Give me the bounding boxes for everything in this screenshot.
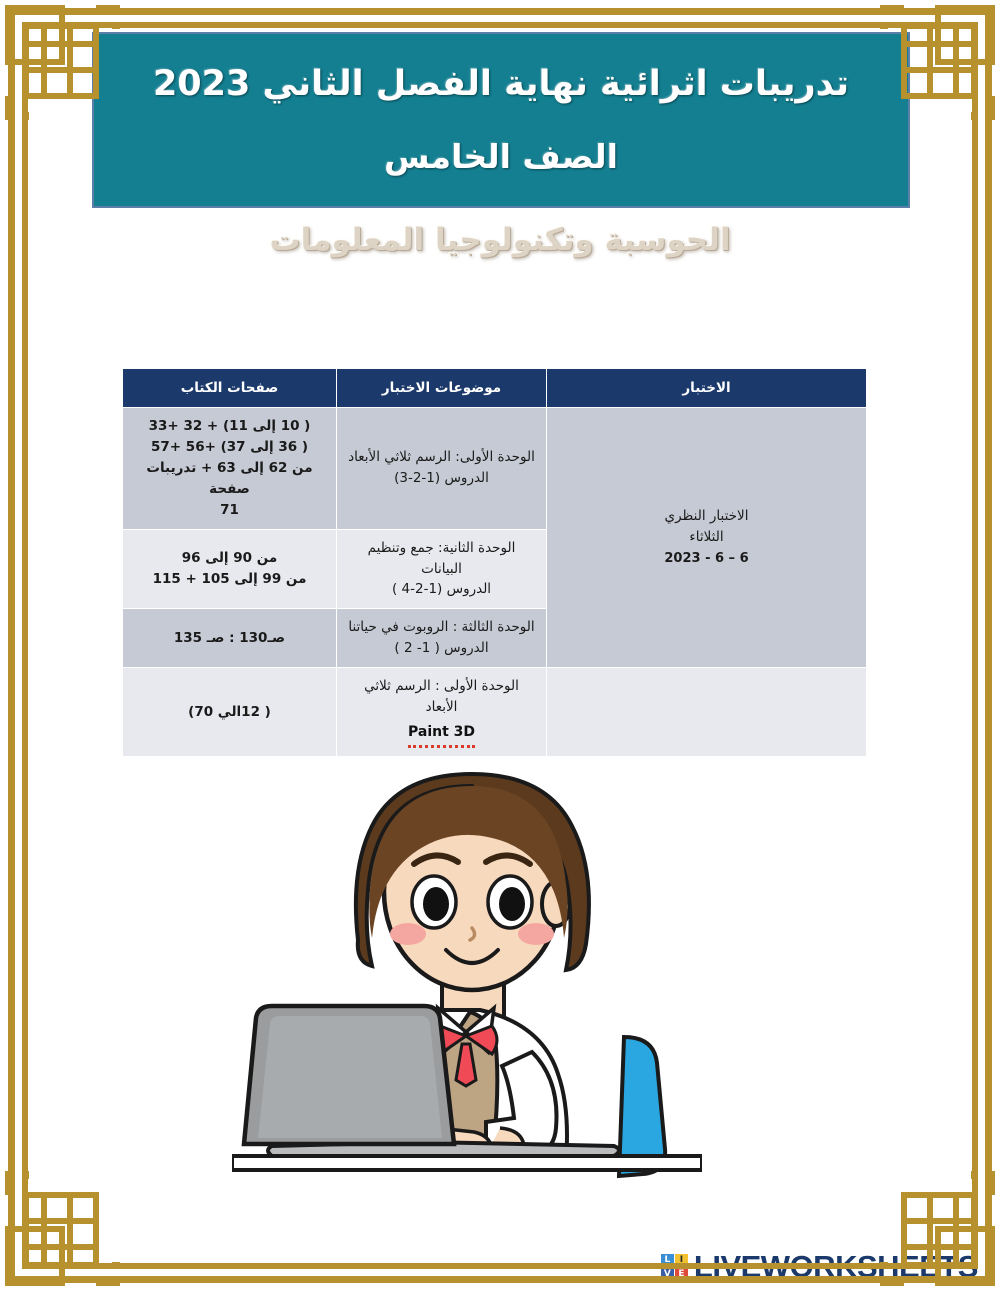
pages-cell: صـ130 : صـ 135 bbox=[123, 609, 337, 668]
topic-main: الوحدة الأولى : الرسم ثلاثي الأبعاد bbox=[347, 676, 536, 718]
liveworksheets-logo-icon: L I V E bbox=[661, 1254, 688, 1281]
pages-line: من 99 إلى 105 + 115 bbox=[133, 569, 326, 590]
table-row: الوحدة الأولى : الرسم ثلاثي الأبعاد Pain… bbox=[123, 668, 867, 757]
pages-line: ( 12الي 70) bbox=[133, 702, 326, 723]
desk bbox=[232, 1156, 702, 1170]
pages-line: من 90 إلى 96 bbox=[133, 548, 326, 569]
topic-cell: الوحدة الأولى : الرسم ثلاثي الأبعاد Pain… bbox=[337, 668, 547, 757]
pages-cell: من 90 إلى 96 من 99 إلى 105 + 115 bbox=[123, 529, 337, 609]
pages-line: 71 bbox=[133, 500, 326, 521]
pages-cell: ( 10 إلى 11) + 32 +33 ( 36 إلى 37) +56 +… bbox=[123, 408, 337, 530]
column-header-pages: صفحات الكتاب bbox=[123, 369, 337, 408]
pupil-right bbox=[499, 887, 525, 921]
exam-day: الثلاثاء bbox=[557, 527, 856, 548]
topic-sub: الدروس (1-2-3) bbox=[347, 468, 536, 489]
topic-sub: الدروس ( 1- 2 ) bbox=[347, 638, 536, 659]
topic-main: الوحدة الثانية: جمع وتنظيم البيانات bbox=[347, 538, 536, 580]
truncated-text bbox=[557, 709, 856, 715]
worksheet-page: تدريبات اثرائية نهاية الفصل الثاني 2023 … bbox=[0, 0, 1000, 1291]
page-title-line-1: تدريبات اثرائية نهاية الفصل الثاني 2023 bbox=[153, 63, 849, 107]
logo-tile-l: L bbox=[661, 1254, 674, 1267]
exam-info-cell-truncated bbox=[547, 668, 867, 757]
exam-schedule-wrapper: الاختبار موضوعات الاختبار صفحات الكتاب ا… bbox=[122, 368, 866, 757]
topic-cell: الوحدة الثانية: جمع وتنظيم البيانات الدر… bbox=[337, 529, 547, 609]
pages-line: ( 10 إلى 11) + 32 +33 bbox=[133, 416, 326, 437]
title-banner: تدريبات اثرائية نهاية الفصل الثاني 2023 … bbox=[92, 32, 910, 208]
column-header-topics: موضوعات الاختبار bbox=[337, 369, 547, 408]
exam-info-cell: الاختبار النظري الثلاثاء 2023 - 6 – 6 bbox=[547, 408, 867, 668]
pages-cell: ( 12الي 70) bbox=[123, 668, 337, 757]
page-subtitle: الحوسبة وتكنولوجيا المعلومات bbox=[0, 222, 1000, 258]
pages-line: من 62 إلى 63 + تدريبات صفحة bbox=[133, 458, 326, 500]
liveworksheets-logo: L I V E LIVEWORKSHEETS bbox=[661, 1249, 978, 1285]
page-title-line-2: الصف الخامس bbox=[384, 136, 618, 177]
cheek-left bbox=[390, 923, 426, 945]
column-header-exam: الاختبار bbox=[547, 369, 867, 408]
pages-line: صـ130 : صـ 135 bbox=[133, 628, 326, 649]
laptop-screen-inner bbox=[258, 1016, 442, 1138]
topic-main: الوحدة الثالثة : الروبوت في حياتنا bbox=[347, 617, 536, 638]
topic-sub: الدروس (1-2-4 ) bbox=[347, 579, 536, 600]
exam-title: الاختبار النظري bbox=[557, 506, 856, 527]
liveworksheets-brand-text: LIVEWORKSHEETS bbox=[694, 1249, 978, 1285]
logo-tile-v: V bbox=[661, 1268, 674, 1281]
topic-cell: الوحدة الثالثة : الروبوت في حياتنا الدرو… bbox=[337, 609, 547, 668]
pupil-left bbox=[423, 887, 449, 921]
logo-tile-i: I bbox=[675, 1254, 688, 1267]
exam-date: 2023 - 6 – 6 bbox=[664, 549, 748, 569]
pages-line: ( 36 إلى 37) +56 +57 bbox=[133, 437, 326, 458]
topic-app-name: Paint 3D bbox=[408, 722, 475, 748]
table-header-row: الاختبار موضوعات الاختبار صفحات الكتاب bbox=[123, 369, 867, 408]
table-row: الاختبار النظري الثلاثاء 2023 - 6 – 6 ال… bbox=[123, 408, 867, 530]
exam-schedule-table: الاختبار موضوعات الاختبار صفحات الكتاب ا… bbox=[122, 368, 867, 757]
cheek-right bbox=[518, 923, 554, 945]
topic-main: الوحدة الأولى: الرسم ثلاثي الأبعاد bbox=[347, 447, 536, 468]
girl-using-laptop-illustration bbox=[232, 752, 702, 1200]
topic-cell: الوحدة الأولى: الرسم ثلاثي الأبعاد الدرو… bbox=[337, 408, 547, 530]
logo-tile-e: E bbox=[675, 1268, 688, 1281]
